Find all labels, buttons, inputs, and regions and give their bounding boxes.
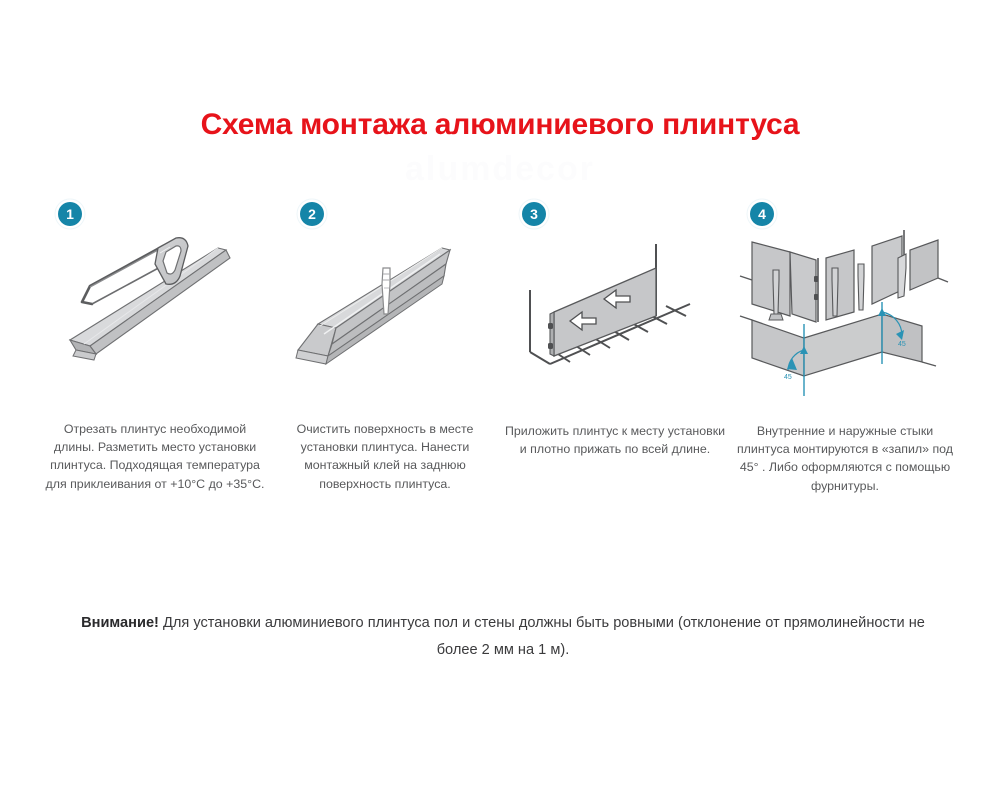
angle-label-outer: 45: [898, 341, 906, 348]
notice-text: Внимание! Для установки алюминиевого пли…: [78, 610, 928, 664]
steps-row: 1: [40, 198, 960, 558]
step-3-badge: 3: [522, 202, 546, 226]
step-2: 2: [270, 198, 500, 558]
watermark-text: alumdecor: [0, 150, 1000, 189]
step-4-caption: Внутренние и наружные стыки плинтуса мон…: [734, 422, 956, 495]
glue-application-baseboard-icon: [270, 224, 500, 402]
angle-label-inner: 45: [784, 374, 792, 381]
step-4: 4: [730, 198, 960, 558]
page-title: Схема монтажа алюминиевого плинтуса: [0, 108, 1000, 142]
instruction-diagram-page: alumdecor Схема монтажа алюминиевого пли…: [0, 0, 1000, 800]
hacksaw-cutting-baseboard-icon: [40, 224, 270, 402]
step-2-caption: Очистить поверхность в месте установки п…: [274, 420, 496, 493]
step-4-badge: 4: [750, 202, 774, 226]
corner-joints-45-degree-icon: 45 45: [730, 224, 960, 402]
notice-body: Для установки алюминиевого плинтуса пол …: [159, 615, 925, 658]
notice-bold-prefix: Внимание!: [81, 615, 159, 631]
step-2-badge: 2: [300, 202, 324, 226]
step-1-badge: 1: [58, 202, 82, 226]
step-1: 1: [40, 198, 270, 558]
press-baseboard-to-wall-icon: [500, 224, 730, 402]
step-3-caption: Приложить плинтус к месту установки и пл…: [502, 422, 728, 458]
step-1-caption: Отрезать плинтус необходимой длины. Разм…: [44, 420, 266, 493]
step-3: 3: [500, 198, 730, 558]
